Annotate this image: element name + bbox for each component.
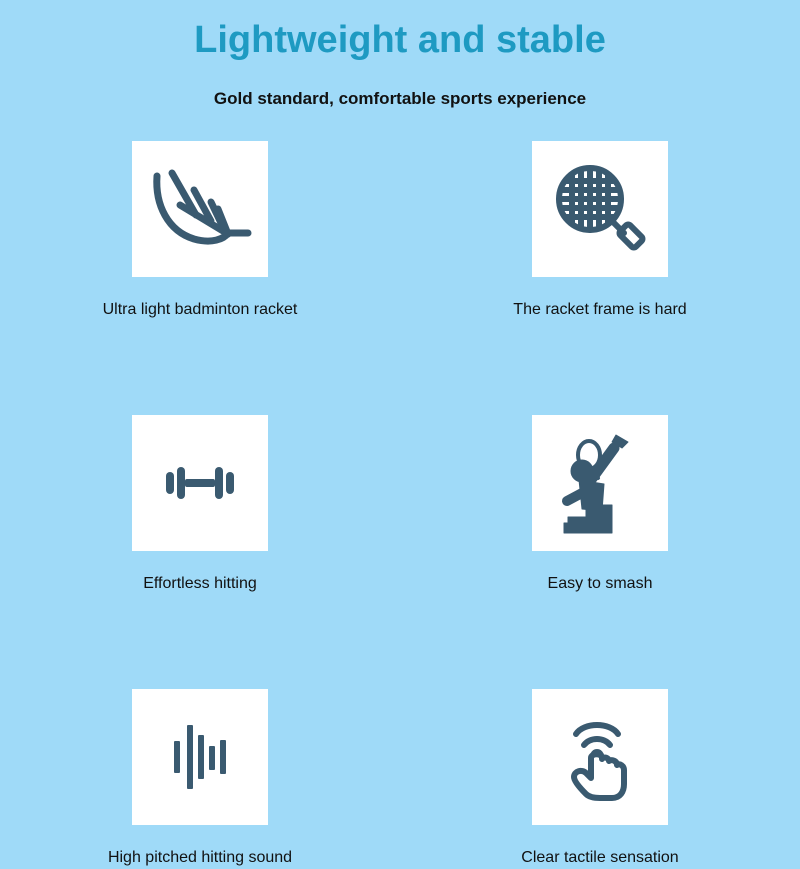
feature-item-3: Easy to smash	[400, 415, 800, 595]
feature-label: Ultra light badminton racket	[103, 299, 298, 321]
feature-highlight-page: Lightweight and stable Gold standard, co…	[0, 0, 800, 800]
feature-label: High pitched hitting sound	[108, 847, 292, 869]
page-subtitle: Gold standard, comfortable sports experi…	[0, 88, 800, 110]
badminton-player-smash-icon	[558, 431, 642, 535]
feather-icon	[148, 163, 252, 255]
page-title: Lightweight and stable	[0, 18, 800, 62]
feature-card	[532, 689, 668, 825]
feature-card	[132, 689, 268, 825]
feature-card	[532, 415, 668, 551]
dumbbell-icon	[164, 463, 236, 503]
feature-card	[132, 141, 268, 277]
feature-item-0: Ultra light badminton racket	[0, 141, 400, 321]
sound-wave-icon	[172, 721, 228, 793]
feature-label: The racket frame is hard	[513, 299, 686, 321]
feature-item-1: The racket frame is hard	[400, 141, 800, 321]
badminton-racket-icon	[552, 161, 648, 257]
feature-item-5: Clear tactile sensation	[400, 689, 800, 869]
feature-row: Effortless hitting	[0, 415, 800, 595]
feature-row: Ultra light badminton racket The rac	[0, 141, 800, 321]
feature-grid: Ultra light badminton racket The rac	[0, 141, 800, 869]
feature-label: Clear tactile sensation	[521, 847, 678, 869]
feature-card	[532, 141, 668, 277]
feature-label: Easy to smash	[548, 573, 653, 595]
tap-gesture-icon	[562, 712, 638, 802]
feature-row: High pitched hitting sound Clear tactile…	[0, 689, 800, 869]
feature-item-4: High pitched hitting sound	[0, 689, 400, 869]
feature-item-2: Effortless hitting	[0, 415, 400, 595]
feature-label: Effortless hitting	[143, 573, 257, 595]
feature-card	[132, 415, 268, 551]
